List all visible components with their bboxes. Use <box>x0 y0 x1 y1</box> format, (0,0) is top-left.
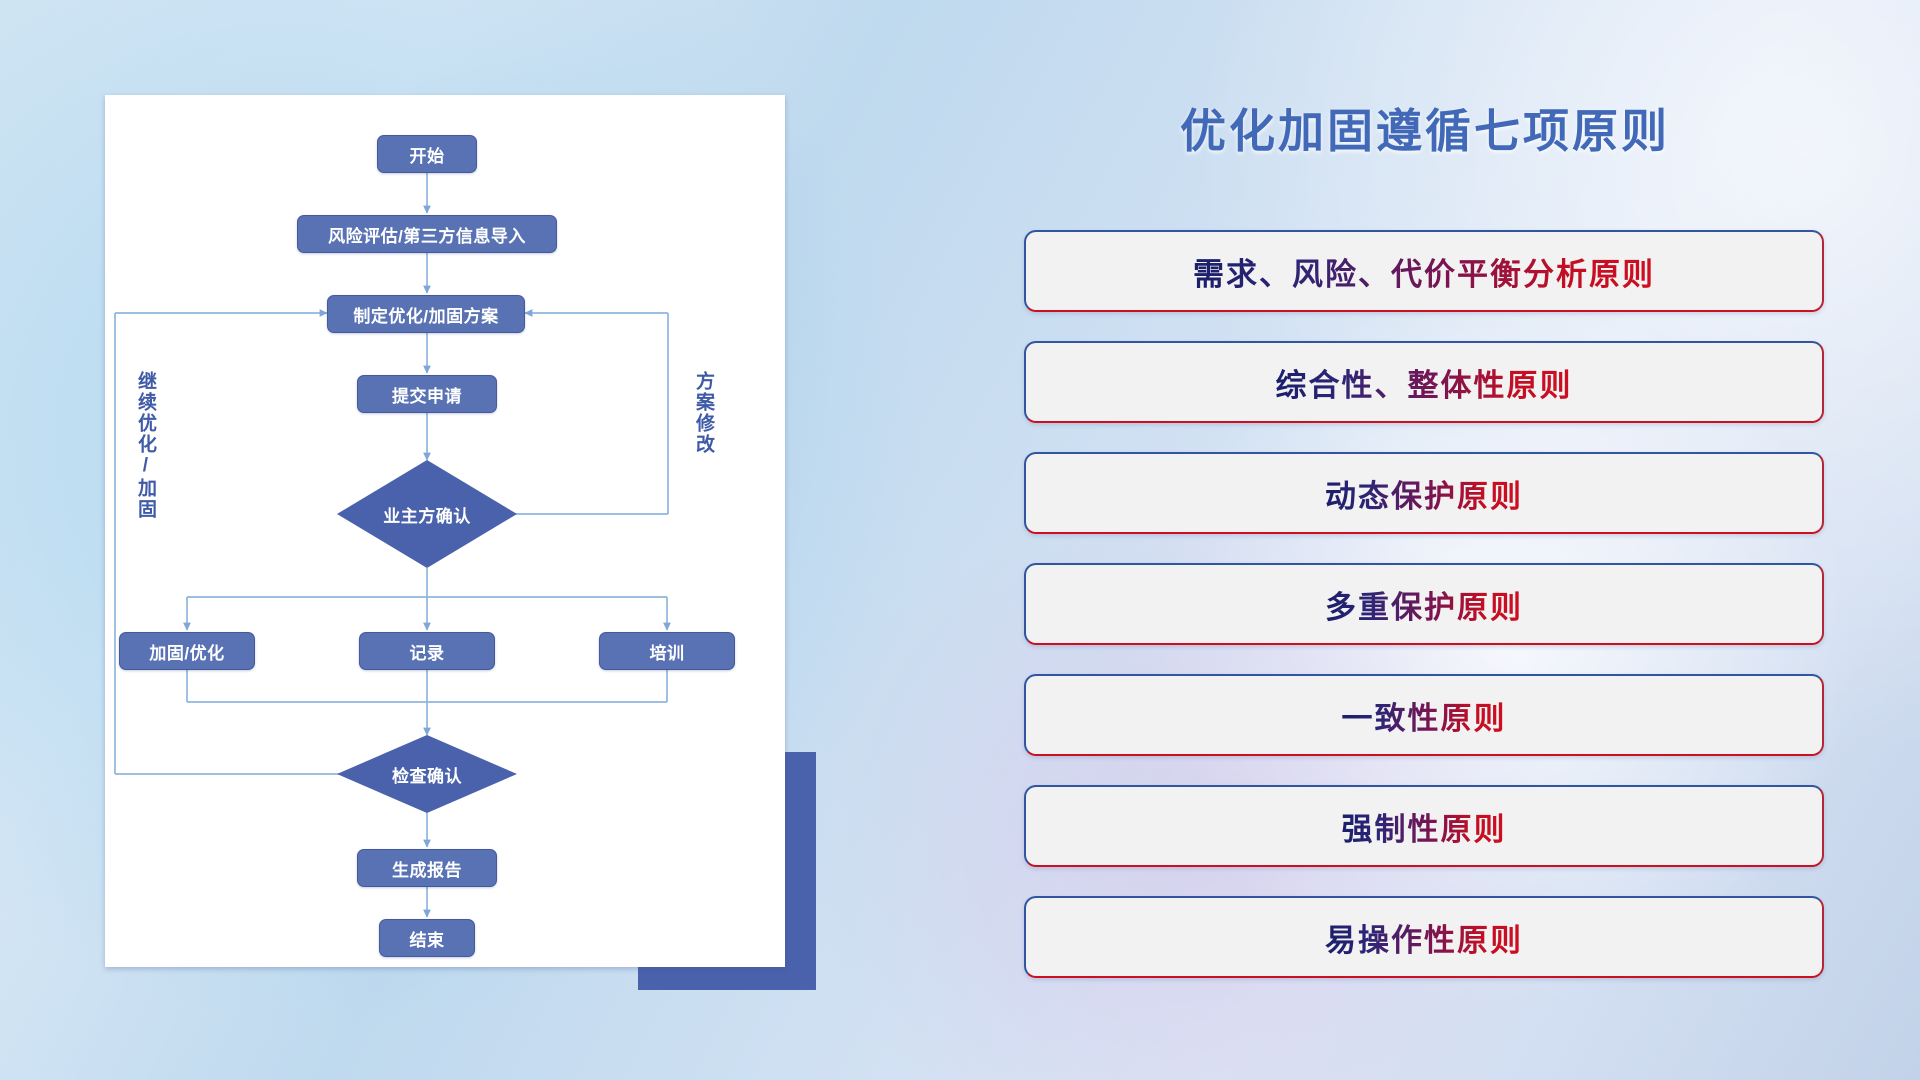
flow-node-submit[interactable]: 提交申请 <box>357 375 497 413</box>
principles-panel: 优化加固遵循七项原则 需求、风险、代价平衡分析原则 综合性、整体性原则 动态保护… <box>1020 95 1830 995</box>
flow-node-risk-assessment[interactable]: 风险评估/第三方信息导入 <box>297 215 557 253</box>
flow-node-label: 风险评估/第三方信息导入 <box>328 222 526 247</box>
principle-card-2[interactable]: 综合性、整体性原则 <box>1024 341 1824 423</box>
principles-list: 需求、风险、代价平衡分析原则 综合性、整体性原则 动态保护原则 多重保护原则 一… <box>1024 230 1824 1007</box>
flow-node-label: 制定优化/加固方案 <box>353 302 498 327</box>
flow-node-record[interactable]: 记录 <box>359 632 495 670</box>
flow-node-label: 生成报告 <box>392 856 462 881</box>
edge-label-plan-revision: 方案修改 <box>693 371 713 455</box>
principle-label: 易操作性原则 <box>1325 915 1523 960</box>
principle-label: 一致性原则 <box>1342 693 1507 738</box>
edge-label-continue-optimize: 继续优化/加固 <box>135 371 155 520</box>
flow-node-label: 开始 <box>410 142 445 167</box>
flowchart-card: 开始 风险评估/第三方信息导入 制定优化/加固方案 提交申请 业主方确认 加固/… <box>105 95 785 967</box>
principle-label: 动态保护原则 <box>1325 471 1523 516</box>
principle-label: 多重保护原则 <box>1325 582 1523 627</box>
flow-node-plan[interactable]: 制定优化/加固方案 <box>327 295 525 333</box>
flow-node-owner-confirm[interactable]: 业主方确认 <box>337 460 517 568</box>
principle-label: 综合性、整体性原则 <box>1276 360 1573 405</box>
flow-node-start[interactable]: 开始 <box>377 135 477 173</box>
flow-node-label: 记录 <box>410 639 445 664</box>
flow-node-check-confirm[interactable]: 检查确认 <box>337 735 517 813</box>
principle-card-4[interactable]: 多重保护原则 <box>1024 563 1824 645</box>
slide-root: 开始 风险评估/第三方信息导入 制定优化/加固方案 提交申请 业主方确认 加固/… <box>0 0 1920 1080</box>
flow-node-label: 加固/优化 <box>149 639 224 664</box>
principle-card-1[interactable]: 需求、风险、代价平衡分析原则 <box>1024 230 1824 312</box>
flow-node-report[interactable]: 生成报告 <box>357 849 497 887</box>
panel-title: 优化加固遵循七项原则 <box>1020 95 1830 161</box>
principle-card-7[interactable]: 易操作性原则 <box>1024 896 1824 978</box>
principle-label: 强制性原则 <box>1342 804 1507 849</box>
principle-card-3[interactable]: 动态保护原则 <box>1024 452 1824 534</box>
flow-node-label: 培训 <box>650 639 685 664</box>
principle-card-5[interactable]: 一致性原则 <box>1024 674 1824 756</box>
flow-node-reinforce[interactable]: 加固/优化 <box>119 632 255 670</box>
flow-node-end[interactable]: 结束 <box>379 919 475 957</box>
flow-node-label: 结束 <box>410 926 445 951</box>
flow-node-label: 提交申请 <box>392 382 462 407</box>
flow-node-training[interactable]: 培训 <box>599 632 735 670</box>
principle-label: 需求、风险、代价平衡分析原则 <box>1193 249 1655 294</box>
principle-card-6[interactable]: 强制性原则 <box>1024 785 1824 867</box>
